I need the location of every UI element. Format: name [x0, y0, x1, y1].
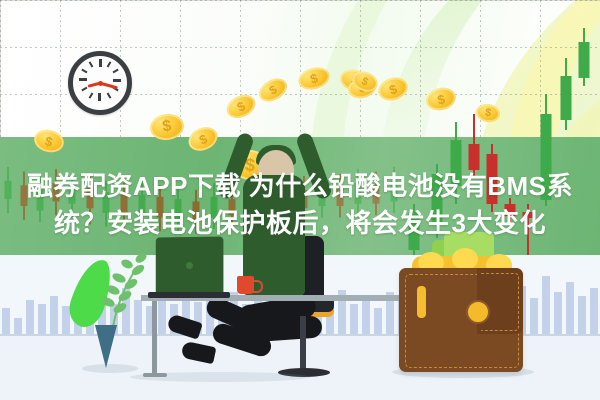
- headline-overlay: 融券配资APP下载 为什么铅酸电池没有BMS系 统？安装电池保护板后，将会发生3…: [0, 168, 600, 242]
- wallet-button: [466, 300, 490, 324]
- headline-line-1: 融券配资APP下载 为什么铅酸电池没有BMS系: [0, 168, 600, 205]
- wallet-card-tab: [417, 286, 426, 318]
- headline-line-2: 统？安装电池保护板后，将会发生3大变化: [0, 205, 600, 242]
- wallet-flap-stitching: [481, 273, 519, 331]
- illustration-canvas: $$$$$$$$$$$$$: [0, 0, 600, 400]
- wallet-coin-b: [452, 248, 478, 270]
